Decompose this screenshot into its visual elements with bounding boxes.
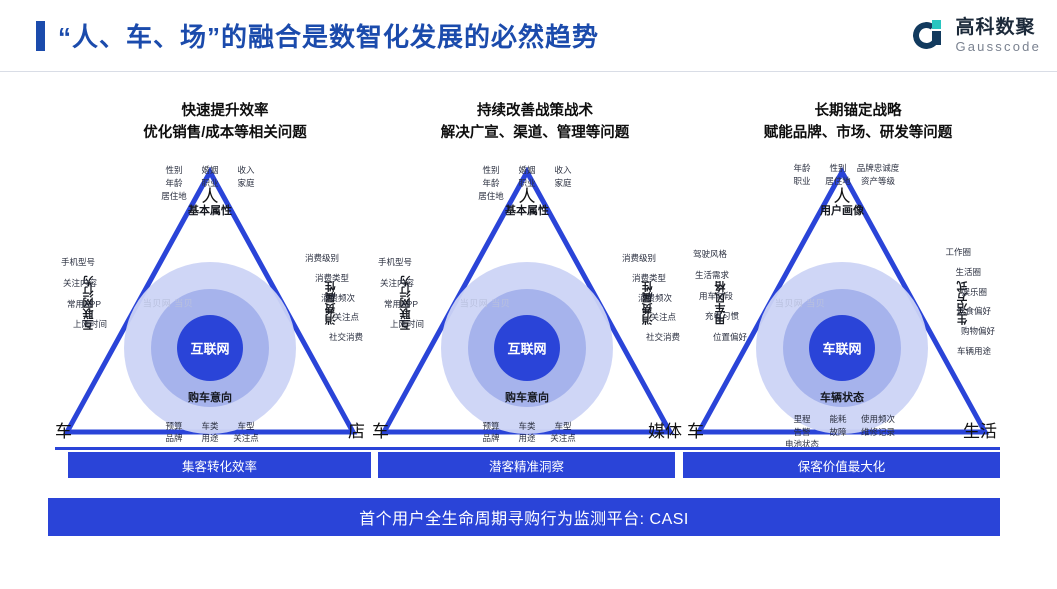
vertex-bottom-right-3: 生活 [963, 417, 997, 442]
attribute-cluster-top-3: 年龄性别品牌忠诚度 职业居住地资产等级 [784, 162, 900, 188]
column-heading-2-line2: 解决广宣、渠道、管理等问题 [385, 122, 685, 144]
concentric-diagram-1: 互联网 [120, 258, 300, 438]
bars-top-rule [55, 447, 1000, 450]
column-heading-3: 长期锚定战略 赋能品牌、市场、研发等问题 [708, 100, 1008, 145]
column-heading-3-line2: 赋能品牌、市场、研发等问题 [708, 122, 1008, 144]
platform-banner[interactable]: 首个用户全生命周期寻购行为监测平台: CASI [48, 498, 1000, 536]
ring-label-top-1: 基本属性 [188, 202, 232, 218]
logo-teal-square [932, 20, 941, 29]
vertex-bottom-right-1: 店 [348, 417, 365, 442]
page-title: “人、车、场”的融合是数智化发展的必然趋势 [58, 17, 599, 54]
title-accent-bar [36, 21, 45, 51]
attribute-cluster-bottom-2: 预算车类车型 品牌用途关注点 [473, 420, 581, 446]
watermark-3: 当贝网 当贝 [775, 296, 826, 309]
column-heading-2: 持续改善战策战术 解决广宣、渠道、管理等问题 [385, 100, 685, 145]
triangle-panel-2: 人 车 媒体 互联网 基本属性 购车意向 互联网行为 消费属性 当贝网 当贝 性… [372, 160, 682, 445]
center-label-3: 车联网 [822, 339, 861, 358]
attribute-cluster-top-2: 性别婚姻收入 年龄职业家庭 居住地 [473, 164, 581, 202]
column-heading-1-line2: 优化销售/成本等相关问题 [75, 122, 375, 144]
attribute-cluster-left-3: 驾驶风格 生活需求 用车时段 充电习惯 位置偏好 [693, 248, 747, 352]
column-heading-2-line1: 持续改善战策战术 [385, 100, 685, 122]
logo-dark-square [932, 31, 941, 45]
vertex-bottom-left-3: 车 [687, 417, 704, 442]
column-heading-3-line1: 长期锚定战略 [708, 100, 1008, 122]
ring-label-top-2: 基本属性 [505, 202, 549, 218]
logo-mark-icon [913, 19, 947, 53]
attribute-cluster-left-2: 手机型号 关注内容 常用APP 上网时间 [378, 256, 424, 339]
center-label-1: 互联网 [190, 339, 229, 358]
column-heading-1: 快速提升效率 优化销售/成本等相关问题 [75, 100, 375, 145]
attribute-cluster-right-2: 消费级别 消费类型 消费频次 关注点 社交消费 [622, 252, 680, 351]
triangle-panel-1: 人 车 店 互联网 基本属性 购车意向 互联网行为 消费属性 当贝网 当贝 性别… [55, 160, 365, 445]
watermark-2: 当贝网 当贝 [460, 296, 511, 309]
ring-label-top-3: 用户画像 [820, 202, 864, 218]
ring-label-bottom-2: 购车意向 [505, 389, 549, 405]
logo-name-en: Gausscode [955, 40, 1041, 53]
slide-header: “人、车、场”的融合是数智化发展的必然趋势 高科数聚 Gausscode [0, 0, 1057, 72]
attribute-cluster-top-1: 性别婚姻收入 年龄职业家庭 居住地 [156, 164, 264, 202]
slide-canvas: “人、车、场”的融合是数智化发展的必然趋势 高科数聚 Gausscode 快速提… [0, 0, 1057, 589]
header-divider [0, 71, 1057, 72]
attribute-cluster-left-1: 手机型号 关注内容 常用APP 上网时间 [61, 256, 107, 339]
attribute-cluster-bottom-1: 预算车类车型 品牌用途关注点 [156, 420, 264, 446]
center-label-2: 互联网 [507, 339, 546, 358]
attribute-cluster-right-3: 工作圈 生活圈 娱乐圈 饮食偏好 购物偏好 车辆用途 [945, 246, 995, 365]
concentric-diagram-3: 车联网 [752, 258, 932, 438]
brand-logo: 高科数聚 Gausscode [913, 18, 1041, 53]
vertex-bottom-right-2: 媒体 [648, 417, 682, 442]
column-heading-1-line1: 快速提升效率 [75, 100, 375, 122]
outcome-bar-2[interactable]: 潜客精准洞察 [378, 452, 675, 478]
attribute-cluster-bottom-3: 里程能耗使用频次 告警故障维修记录 电池状态 [784, 413, 900, 451]
ring-label-bottom-1: 购车意向 [188, 389, 232, 405]
watermark-1: 当贝网 当贝 [143, 296, 194, 309]
logo-wordmark: 高科数聚 Gausscode [955, 18, 1041, 53]
logo-name-cn: 高科数聚 [955, 18, 1041, 37]
concentric-diagram-2: 互联网 [437, 258, 617, 438]
outcome-bar-1[interactable]: 集客转化效率 [68, 452, 371, 478]
attribute-cluster-right-1: 消费级别 消费类型 消费频次 关注点 社交消费 [305, 252, 363, 351]
ring-label-bottom-3: 车辆状态 [820, 389, 864, 405]
outcome-bar-3[interactable]: 保客价值最大化 [683, 452, 1000, 478]
triangle-panel-3: 人 车 生活 车联网 用户画像 车辆状态 用车风格 生活方式 当贝网 当贝 年龄… [687, 160, 997, 445]
vertex-bottom-left-2: 车 [372, 417, 389, 442]
vertex-bottom-left-1: 车 [55, 417, 72, 442]
